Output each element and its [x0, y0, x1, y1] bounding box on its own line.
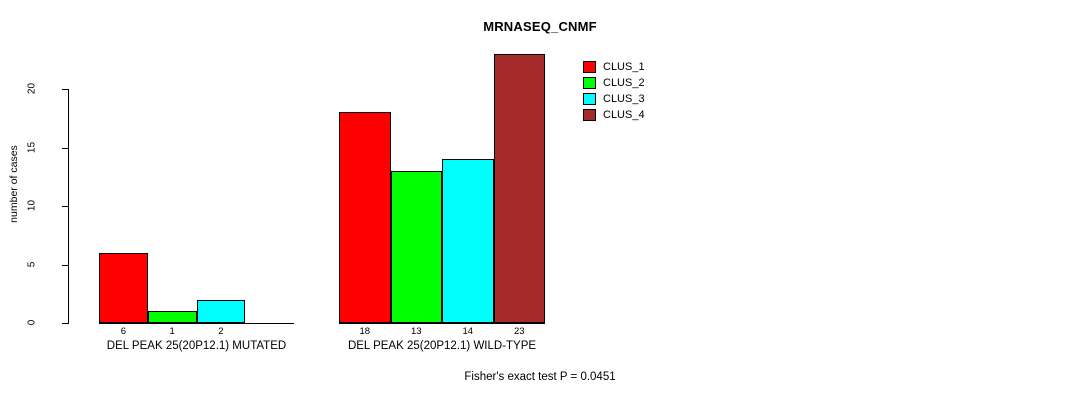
legend-item: CLUS_3 — [583, 92, 645, 106]
bar-value-label: 6 — [99, 326, 148, 337]
legend-item: CLUS_1 — [583, 60, 645, 74]
y-axis-tick-label: 15 — [27, 127, 38, 167]
legend-swatch-icon — [583, 93, 596, 105]
bar-chart-figure: MRNASEQ_CNMF 05101520 number of cases 61… — [0, 0, 1090, 400]
bar-clus_1 — [99, 253, 148, 323]
group-label: DEL PEAK 25(20P12.1) WILD-TYPE — [259, 340, 625, 352]
y-axis-tick — [62, 323, 69, 324]
bar-clus_2 — [148, 311, 197, 323]
axis-baseline — [339, 323, 545, 324]
bar-clus_1 — [339, 112, 391, 323]
axis-baseline — [99, 323, 294, 324]
bar-clus_4 — [494, 54, 546, 323]
y-axis-tick — [62, 206, 69, 207]
y-axis-tick-label: 5 — [27, 244, 38, 284]
legend-item: CLUS_4 — [583, 108, 645, 122]
fisher-test-caption: Fisher's exact test P = 0.0451 — [0, 371, 1085, 383]
chart-title: MRNASEQ_CNMF — [0, 19, 1085, 34]
chart-legend: CLUS_1CLUS_2CLUS_3CLUS_4 — [583, 60, 645, 124]
legend-item: CLUS_2 — [583, 76, 645, 90]
bar-value-label: 23 — [494, 326, 546, 337]
bar-clus_2 — [391, 171, 443, 323]
y-axis-tick — [62, 89, 69, 90]
bar-value-label: 18 — [339, 326, 391, 337]
legend-swatch-icon — [583, 61, 596, 73]
y-axis-tick-label: 20 — [27, 69, 38, 109]
y-axis-tick — [62, 148, 69, 149]
legend-item-label: CLUS_1 — [603, 61, 645, 73]
y-axis-tick — [62, 265, 69, 266]
legend-item-label: CLUS_4 — [603, 109, 645, 121]
legend-swatch-icon — [583, 77, 596, 89]
bar-value-label: 13 — [391, 326, 443, 337]
y-axis-tick-label: 0 — [27, 303, 38, 343]
bar-value-label: 2 — [197, 326, 246, 337]
bar-clus_3 — [197, 300, 246, 323]
y-axis-title: number of cases — [8, 134, 20, 234]
legend-item-label: CLUS_2 — [603, 77, 645, 89]
legend-item-label: CLUS_3 — [603, 93, 645, 105]
bar-clus_3 — [442, 159, 494, 323]
bar-value-label: 14 — [442, 326, 494, 337]
bar-value-label: 1 — [148, 326, 197, 337]
legend-swatch-icon — [583, 109, 596, 121]
y-axis-tick-label: 10 — [27, 186, 38, 226]
